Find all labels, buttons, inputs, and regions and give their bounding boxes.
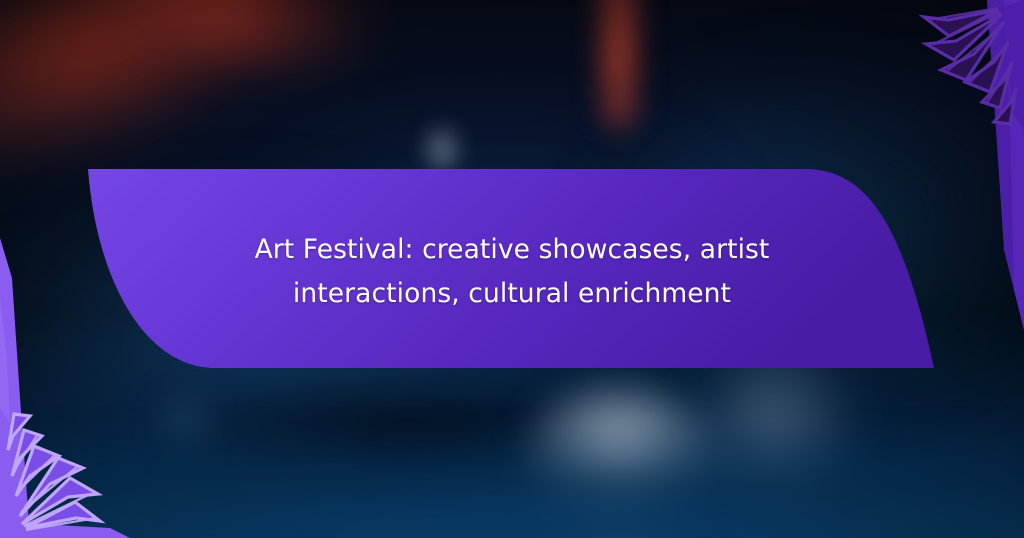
slide-canvas: Art Festival: creative showcases, artist… [0, 0, 1024, 538]
banner-title-text: Art Festival: creative showcases, artist… [196, 228, 828, 316]
banner-title-line-1: Art Festival: creative showcases, artist [196, 228, 828, 272]
banner-title-line-2: interactions, cultural enrichment [196, 272, 828, 316]
title-banner: Art Festival: creative showcases, artist… [0, 0, 1024, 538]
